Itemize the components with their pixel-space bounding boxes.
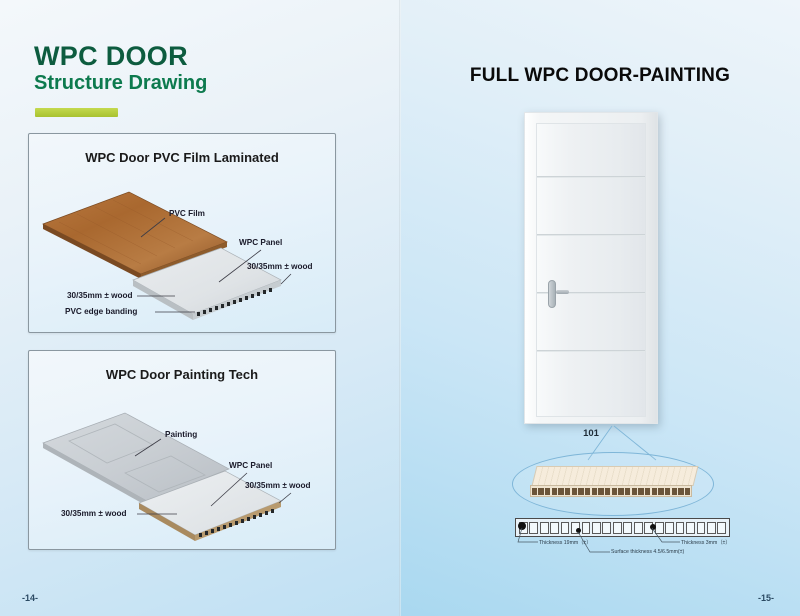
- left-page: WPC DOOR Structure Drawing WPC Door PVC …: [0, 0, 400, 616]
- panel-cell: [618, 488, 623, 495]
- door-groove: [537, 176, 645, 178]
- label-surface-thickness: Surface thickness 4.5/6.5mm(±): [611, 549, 684, 555]
- panel-cell: [672, 488, 677, 495]
- panel-cell: [612, 488, 617, 495]
- diagram1-label-thickness-right: 30/35mm ± wood: [247, 262, 312, 271]
- panel-cell: [565, 488, 570, 495]
- panel-cell: [538, 488, 543, 495]
- panel-cell: [685, 488, 690, 495]
- panel-cell: [638, 488, 643, 495]
- diagram1-label-thickness-left: 30/35mm ± wood: [67, 291, 132, 300]
- panel-cell: [578, 488, 583, 495]
- panel-cell: [678, 488, 683, 495]
- panel-top-surface: [532, 466, 699, 486]
- label-thickness-wall: Thickness 3mm（±）: [681, 539, 731, 546]
- page-number-left: -14-: [22, 593, 38, 603]
- panel-cell: [625, 488, 630, 495]
- panel-cell: [545, 488, 550, 495]
- brochure-spread: WPC DOOR Structure Drawing WPC Door PVC …: [0, 0, 800, 616]
- panel-cell: [598, 488, 603, 495]
- hollow-panel-3d: [530, 466, 696, 498]
- diagram-box-painting-tech: WPC Door Painting Tech: [28, 350, 336, 550]
- panel-cell: [645, 488, 650, 495]
- diagram1-label-edge-banding: PVC edge banding: [65, 307, 137, 316]
- page-number-right: -15-: [758, 593, 774, 603]
- left-page-title: WPC DOOR Structure Drawing: [34, 42, 207, 95]
- door-image: [524, 112, 658, 424]
- door-groove: [537, 350, 645, 352]
- label-thickness-overall: Thickness 19mm（±）: [539, 539, 591, 546]
- page-seam: [399, 0, 401, 616]
- panel-cell: [605, 488, 610, 495]
- panel-cell: [572, 488, 577, 495]
- diagram2-label-thickness-right: 30/35mm ± wood: [245, 481, 310, 490]
- panel-cell: [592, 488, 597, 495]
- panel-cell: [585, 488, 590, 495]
- diagram2-label-thickness-left: 30/35mm ± wood: [61, 509, 126, 518]
- diagram-box-pvc-film-laminated: WPC Door PVC Film Laminated: [28, 133, 336, 333]
- panel-cell: [665, 488, 670, 495]
- diagram2-label-wpc-panel: WPC Panel: [229, 461, 272, 470]
- door-leaf: [536, 123, 646, 417]
- diagram1-label-pvc-film: PVC Film: [169, 209, 205, 218]
- diagram1-label-wpc-panel: WPC Panel: [239, 238, 282, 247]
- panel-cell: [558, 488, 563, 495]
- green-accent-bar: [35, 108, 118, 117]
- panel-cell: [552, 488, 557, 495]
- diagram1-illustration: [29, 134, 333, 330]
- door-handle: [548, 280, 556, 308]
- right-page-title: FULL WPC DOOR-PAINTING: [400, 65, 800, 87]
- panel-cell: [532, 488, 537, 495]
- title-line-2: Structure Drawing: [34, 71, 207, 95]
- panel-cell: [632, 488, 637, 495]
- panel-cell: [658, 488, 663, 495]
- title-line-1: WPC DOOR: [34, 42, 207, 70]
- panel-cell: [652, 488, 657, 495]
- panel-hollow-face: [530, 485, 692, 497]
- door-groove: [537, 234, 645, 236]
- diagram2-label-painting: Painting: [165, 430, 197, 439]
